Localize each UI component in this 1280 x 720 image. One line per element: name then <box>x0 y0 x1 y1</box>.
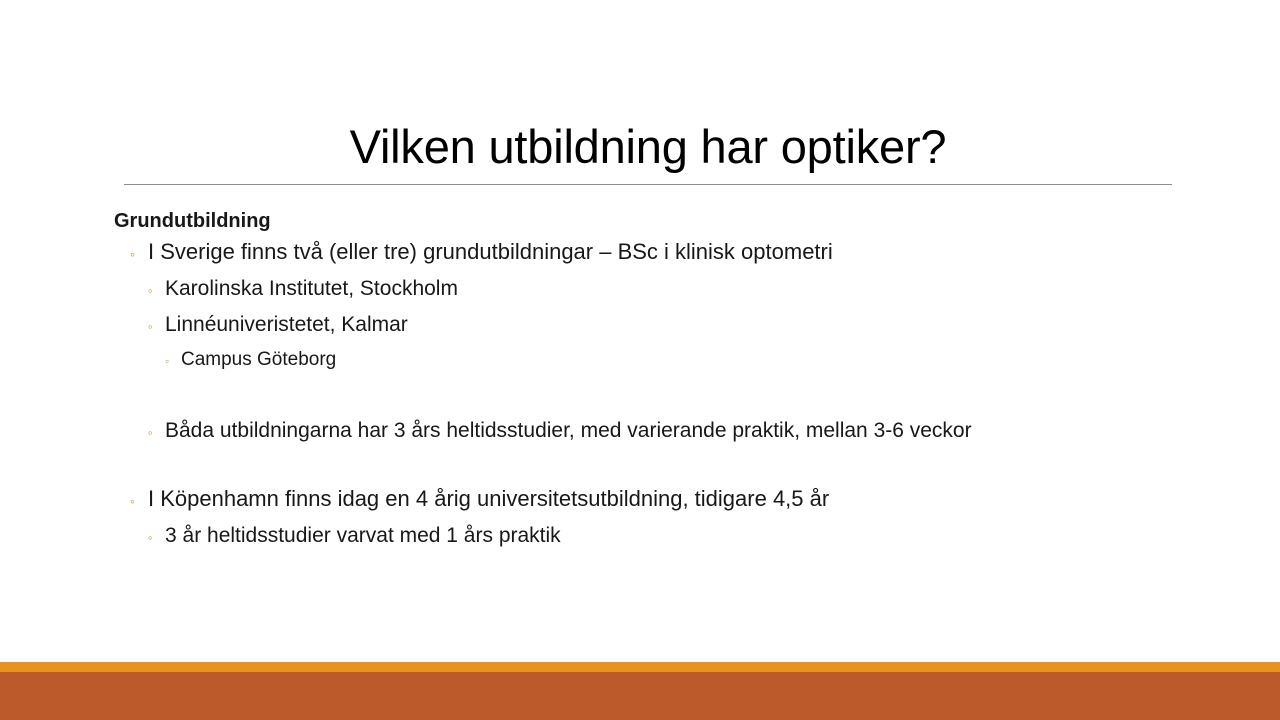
bullet-item-label: Karolinska Institutet, Stockholm <box>165 274 458 303</box>
body-heading: Grundutbildning <box>114 208 1174 234</box>
footer-accent-band <box>0 662 1280 672</box>
bullet-item-label: Linnéuniveristetet, Kalmar <box>165 310 408 339</box>
bullet-icon: ◦ <box>130 247 148 261</box>
bullet-icon: ◦ <box>165 355 181 367</box>
bullet-item-label: 3 år heltidsstudier varvat med 1 års pra… <box>165 521 561 550</box>
page-title: Vilken utbildning har optiker? <box>124 118 1172 176</box>
title-block: Vilken utbildning har optiker? <box>124 118 1172 185</box>
bullet-item-level2: ◦ 3 år heltidsstudier varvat med 1 års p… <box>114 521 1174 550</box>
footer-main-band <box>0 672 1280 720</box>
blank-line <box>114 380 1174 416</box>
bullet-item-label: I Köpenhamn finns idag en 4 årig univers… <box>148 484 829 514</box>
bullet-item-level2: ◦ Linnéuniveristetet, Kalmar <box>114 310 1174 339</box>
bullet-item-level1: ◦ I Sverige finns två (eller tre) grundu… <box>114 237 1174 267</box>
bullet-icon: ◦ <box>148 531 165 544</box>
bullet-item-level2: ◦ Båda utbildningarna har 3 års heltidss… <box>114 416 1174 445</box>
bullet-item-level1: ◦ I Köpenhamn finns idag en 4 årig unive… <box>114 484 1174 514</box>
bullet-icon: ◦ <box>148 284 165 297</box>
bullet-icon: ◦ <box>148 426 165 439</box>
bullet-icon: ◦ <box>130 494 148 508</box>
bullet-item-level3: ◦ Campus Göteborg <box>114 346 1174 373</box>
bullet-item-level2: ◦ Karolinska Institutet, Stockholm <box>114 274 1174 303</box>
bullet-icon: ◦ <box>148 320 165 333</box>
body-heading-label: Grundutbildning <box>114 208 271 234</box>
bullet-item-label: Båda utbildningarna har 3 års heltidsstu… <box>165 416 972 445</box>
bullet-item-label: I Sverige finns två (eller tre) grundutb… <box>148 237 833 267</box>
blank-line <box>114 452 1174 484</box>
body-content: Grundutbildning ◦ I Sverige finns två (e… <box>114 208 1174 557</box>
bullet-item-label: Campus Göteborg <box>181 346 336 373</box>
title-divider <box>124 184 1172 185</box>
slide: Vilken utbildning har optiker? Grundutbi… <box>0 0 1280 720</box>
